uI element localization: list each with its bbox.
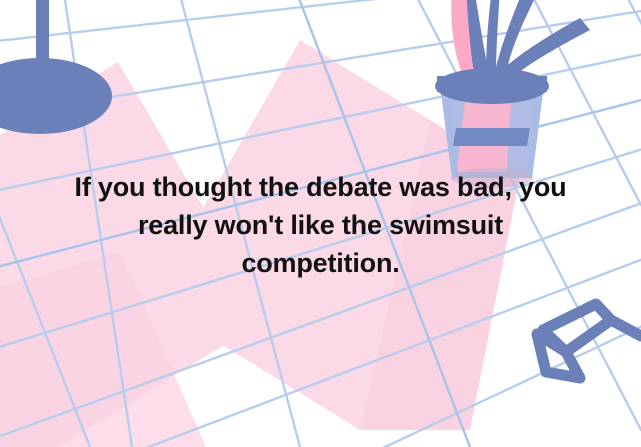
desk-illustration xyxy=(0,0,641,447)
pot-rim-collar xyxy=(437,76,547,92)
pot-band xyxy=(453,128,530,146)
pot-shadow xyxy=(451,168,533,188)
meme-card: If you thought the debate was bad, you r… xyxy=(0,0,641,447)
